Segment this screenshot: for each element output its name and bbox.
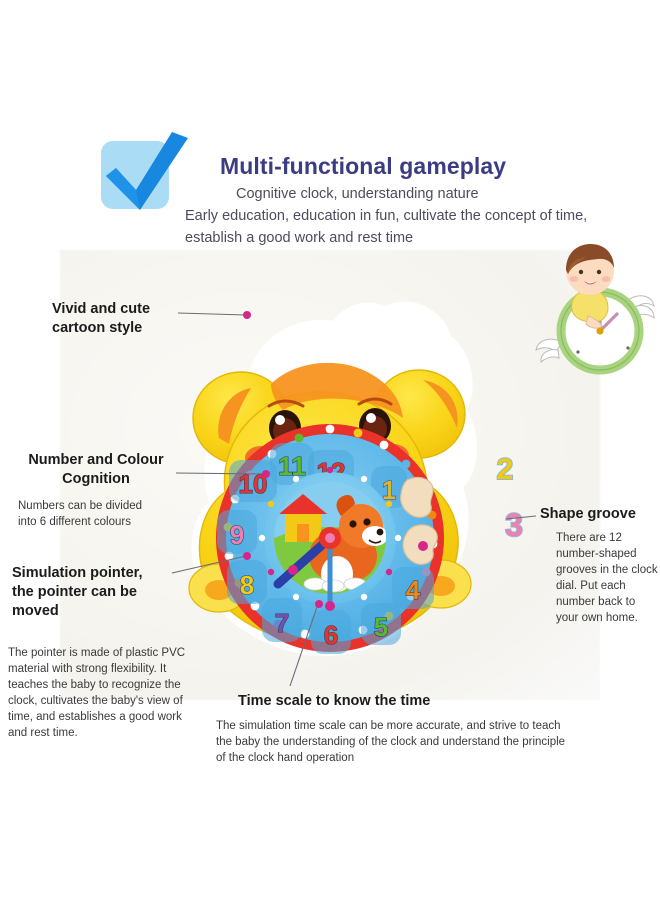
svg-text:11: 11 xyxy=(278,451,306,481)
svg-text:8: 8 xyxy=(240,570,254,600)
bear-clock-toy: 12 1 4 5 xyxy=(175,288,485,688)
number-tile-6: 6 xyxy=(311,610,351,654)
annotation-shape-heading: Shape groove xyxy=(540,505,660,524)
annotation-shape-body: There are 12 number-shaped grooves in th… xyxy=(556,530,660,626)
svg-text:4: 4 xyxy=(406,575,421,605)
annotation-pointer-body: The pointer is made of plastic PVC mater… xyxy=(8,645,194,741)
svg-text:7: 7 xyxy=(275,608,289,638)
check-icon xyxy=(96,128,192,220)
annotation-pointer-line1: Simulation pointer, xyxy=(12,565,143,581)
number-tile-8: 8 xyxy=(227,560,267,604)
svg-text:6: 6 xyxy=(324,620,338,650)
callout-dot-time xyxy=(315,600,323,608)
annotation-time-heading: Time scale to know the time xyxy=(238,692,488,711)
annotation-pointer-line3: moved xyxy=(12,603,59,619)
boy-with-winged-clock-illustration xyxy=(528,238,656,380)
callout-dot-vivid xyxy=(243,311,251,319)
page-title: Multi-functional gameplay xyxy=(220,153,506,180)
number-tile-4: 4 xyxy=(392,567,434,609)
annotation-number-body: Numbers can be divided into 6 different … xyxy=(18,498,193,530)
annotation-pointer-line2: the pointer can be xyxy=(12,584,137,600)
annotation-pointer-heading: Simulation pointer, the pointer can be m… xyxy=(12,564,177,621)
number-tile-10: 10 xyxy=(229,460,277,502)
subtitle-line-2: Early education, education in fun, culti… xyxy=(185,208,587,224)
number-tile-9: 9 xyxy=(217,510,257,554)
groove-marker-dot xyxy=(418,541,428,551)
loose-number-piece-3: 3 xyxy=(492,500,536,546)
subtitle-line-1: Cognitive clock, understanding nature xyxy=(236,186,479,202)
callout-dot-pointer xyxy=(243,552,251,560)
annotation-vivid-line1: Vivid and cute xyxy=(52,301,150,317)
annotation-time-body: The simulation time scale can be more ac… xyxy=(216,718,568,766)
loose-number-piece-2: 2 xyxy=(484,445,526,489)
svg-text:5: 5 xyxy=(374,612,388,642)
svg-text:3: 3 xyxy=(505,507,523,543)
subtitle-line-3: establish a good work and rest time xyxy=(185,230,413,246)
annotation-number-line1: Number and Colour xyxy=(28,452,163,468)
annotation-number-body-line2: into 6 different colours xyxy=(18,516,131,528)
number-tile-5: 5 xyxy=(361,603,401,645)
annotation-number-body-line1: Numbers can be divided xyxy=(18,500,142,512)
annotation-vivid-heading: Vivid and cute cartoon style xyxy=(52,300,202,338)
annotation-vivid-line2: cartoon style xyxy=(52,320,142,336)
annotation-number-heading: Number and Colour Cognition xyxy=(8,451,184,489)
svg-text:9: 9 xyxy=(230,520,244,550)
annotation-number-line2: Cognition xyxy=(62,471,130,487)
infographic-page: Multi-functional gameplay Cognitive cloc… xyxy=(0,0,660,904)
svg-text:2: 2 xyxy=(497,453,514,486)
number-tile-7: 7 xyxy=(262,598,302,642)
callout-dot-number xyxy=(262,470,270,478)
